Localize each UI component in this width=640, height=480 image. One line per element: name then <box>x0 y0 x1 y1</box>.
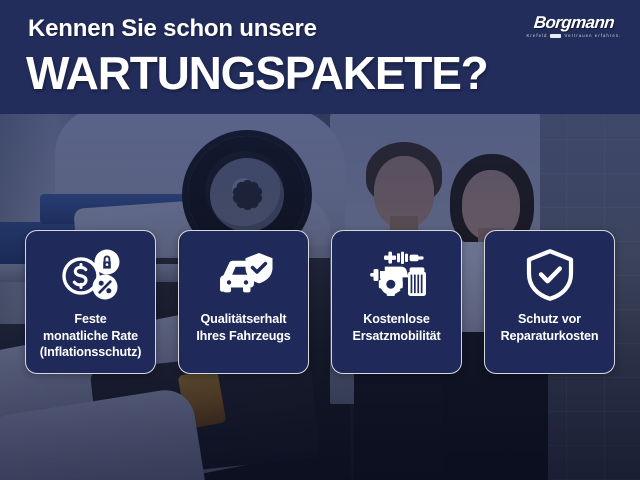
logo-tagline-left: Krefeld <box>527 33 548 38</box>
shield-check-icon <box>525 245 575 305</box>
coin-lock-percent-icon <box>60 245 122 305</box>
benefit-line-1: Qualitätserhalt <box>180 311 307 328</box>
eyebrow-text: Kennen Sie schon unsere <box>28 15 317 43</box>
benefit-card-repair-protection[interactable]: Schutz vor Reparaturkosten <box>484 230 615 374</box>
logo-wordmark: Borgmann <box>521 14 627 31</box>
benefit-line-1: Schutz vor <box>486 311 613 328</box>
benefit-card-fixed-rate[interactable]: Feste monatliche Rate (Inflationsschutz) <box>25 230 156 374</box>
benefit-card-text: Qualitätserhalt Ihres Fahrzeugs <box>180 311 307 344</box>
benefit-card-text: Kostenlose Ersatzmobilität <box>333 311 460 344</box>
benefit-line-1: Kostenlose <box>333 311 460 328</box>
benefit-card-text: Feste monatliche Rate (Inflationsschutz) <box>27 311 154 361</box>
benefit-line-1: Feste <box>27 311 154 328</box>
benefit-line-2: monatliche Rate <box>27 328 154 345</box>
benefit-line-2: Reparaturkosten <box>486 328 613 345</box>
benefit-card-quality[interactable]: Qualitätserhalt Ihres Fahrzeugs <box>178 230 309 374</box>
borgmann-logo[interactable]: Borgmann Krefeld Vertrauen erfahren. <box>522 14 626 38</box>
banner-header: Kennen Sie schon unsere WARTUNGSPAKETE? … <box>0 0 640 114</box>
engine-parts-gear-oilfilter-icon <box>364 245 430 305</box>
benefit-line-2: Ihres Fahrzeugs <box>180 328 307 345</box>
logo-tagline-right: Vertrauen erfahren. <box>564 33 621 38</box>
maintenance-packages-banner: Kennen Sie schon unsere WARTUNGSPAKETE? … <box>0 0 640 480</box>
benefit-cards-row: Feste monatliche Rate (Inflationsschutz) <box>0 230 640 375</box>
page-title: WARTUNGSPAKETE? <box>26 50 488 96</box>
logo-dash-icon <box>550 34 561 38</box>
car-shield-check-icon <box>212 245 276 305</box>
benefit-card-text: Schutz vor Reparaturkosten <box>486 311 613 344</box>
benefit-line-2: Ersatzmobilität <box>333 328 460 345</box>
logo-tagline: Krefeld Vertrauen erfahren. <box>522 33 626 38</box>
benefit-card-mobility[interactable]: Kostenlose Ersatzmobilität <box>331 230 462 374</box>
benefit-line-3: (Inflationsschutz) <box>27 344 154 361</box>
